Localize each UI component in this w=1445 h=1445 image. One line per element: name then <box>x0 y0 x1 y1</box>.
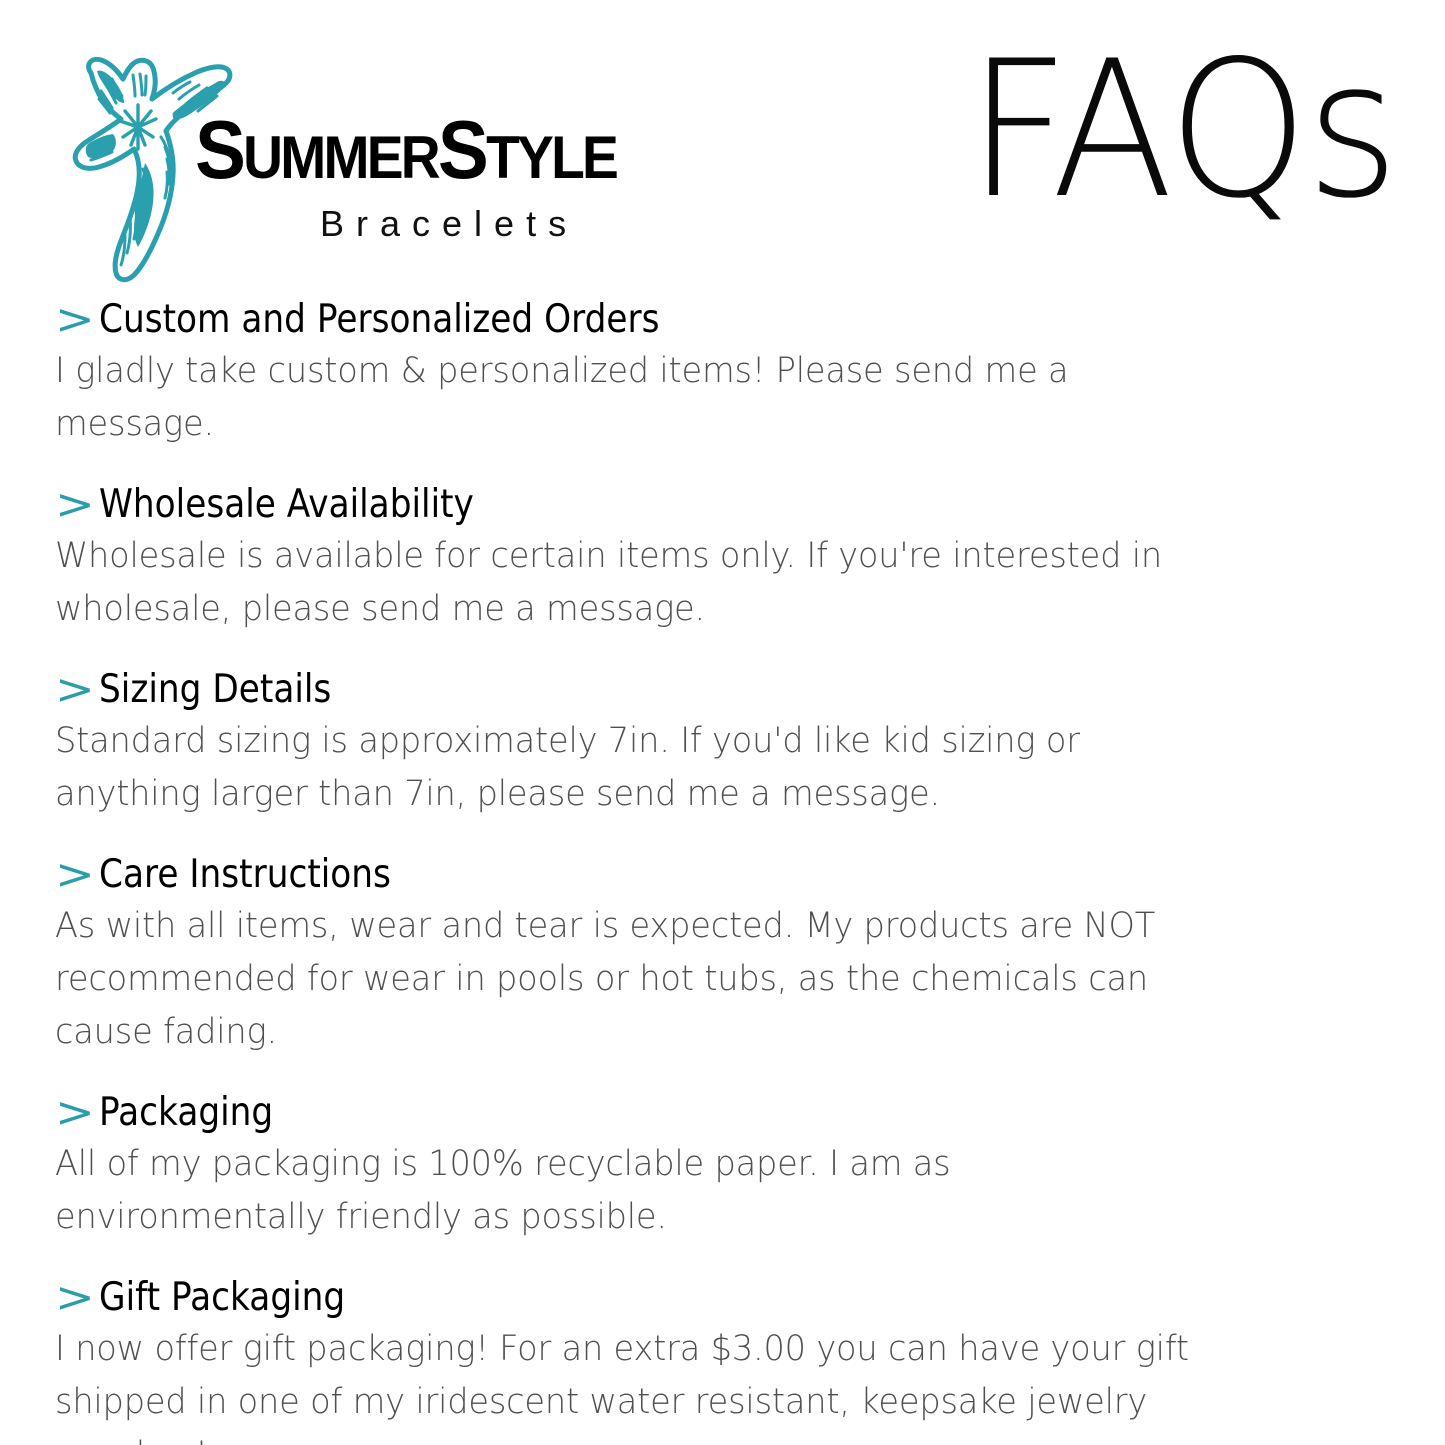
faq-heading[interactable]: > Wholesale Availability <box>55 481 1265 528</box>
faq-heading[interactable]: > Custom and Personalized Orders <box>55 296 1265 343</box>
faq-heading[interactable]: > Sizing Details <box>55 666 1265 713</box>
chevron-right-icon: > <box>55 1272 95 1323</box>
faq-heading-label: Sizing Details <box>99 667 331 713</box>
faq-heading-label: Care Instructions <box>99 852 391 898</box>
faq-heading[interactable]: > Packaging <box>55 1089 1265 1136</box>
page-title: FAQs <box>967 36 1397 225</box>
faq-heading[interactable]: > Gift Packaging <box>55 1274 1265 1321</box>
brand-tagline: Bracelets <box>320 204 675 244</box>
faq-item-sizing-details: > Sizing Details Standard sizing is appr… <box>55 666 1265 821</box>
chevron-right-icon: > <box>55 664 95 715</box>
faq-item-wholesale-availability: > Wholesale Availability Wholesale is av… <box>55 481 1265 636</box>
chevron-right-icon: > <box>55 1087 95 1138</box>
faq-heading-label: Custom and Personalized Orders <box>99 297 660 343</box>
chevron-right-icon: > <box>55 479 95 530</box>
wordmark-main-text: SUMMERSTYLE <box>195 110 637 198</box>
faq-item-gift-packaging: > Gift Packaging I now offer gift packag… <box>55 1274 1265 1445</box>
faq-body-text: I gladly take custom & personalized item… <box>55 345 1202 451</box>
wordmark-s2: S <box>438 103 486 196</box>
brand-wordmark: SUMMERSTYLE Bracelets <box>195 110 675 240</box>
faq-body-text: All of my packaging is 100% recyclable p… <box>55 1138 1202 1244</box>
faq-body-text: Standard sizing is approximately 7in. If… <box>55 715 1202 821</box>
faq-body-text: I now offer gift packaging! For an extra… <box>55 1323 1202 1445</box>
faq-heading-label: Packaging <box>99 1090 273 1136</box>
page-header: SUMMERSTYLE Bracelets FAQs <box>0 0 1445 290</box>
faq-heading-label: Gift Packaging <box>99 1275 345 1321</box>
chevron-right-icon: > <box>55 849 95 900</box>
brand-logo: SUMMERSTYLE Bracelets <box>55 22 675 287</box>
faq-item-packaging: > Packaging All of my packaging is 100% … <box>55 1089 1265 1244</box>
faq-item-care-instructions: > Care Instructions As with all items, w… <box>55 851 1265 1059</box>
wordmark-ummer: UMMER <box>243 124 438 191</box>
faq-item-custom-and-personalized-orders: > Custom and Personalized Orders I gladl… <box>55 296 1265 451</box>
faq-heading-label: Wholesale Availability <box>99 482 474 528</box>
faq-page: SUMMERSTYLE Bracelets FAQs > Custom and … <box>0 0 1445 1445</box>
chevron-right-icon: > <box>55 294 95 345</box>
faq-list: > Custom and Personalized Orders I gladl… <box>55 296 1265 1445</box>
faq-heading[interactable]: > Care Instructions <box>55 851 1265 898</box>
faq-body-text: Wholesale is available for certain items… <box>55 530 1202 636</box>
wordmark-tyle: TYLE <box>486 124 616 191</box>
wordmark-s1: S <box>195 103 243 196</box>
faq-body-text: As with all items, wear and tear is expe… <box>55 900 1202 1059</box>
